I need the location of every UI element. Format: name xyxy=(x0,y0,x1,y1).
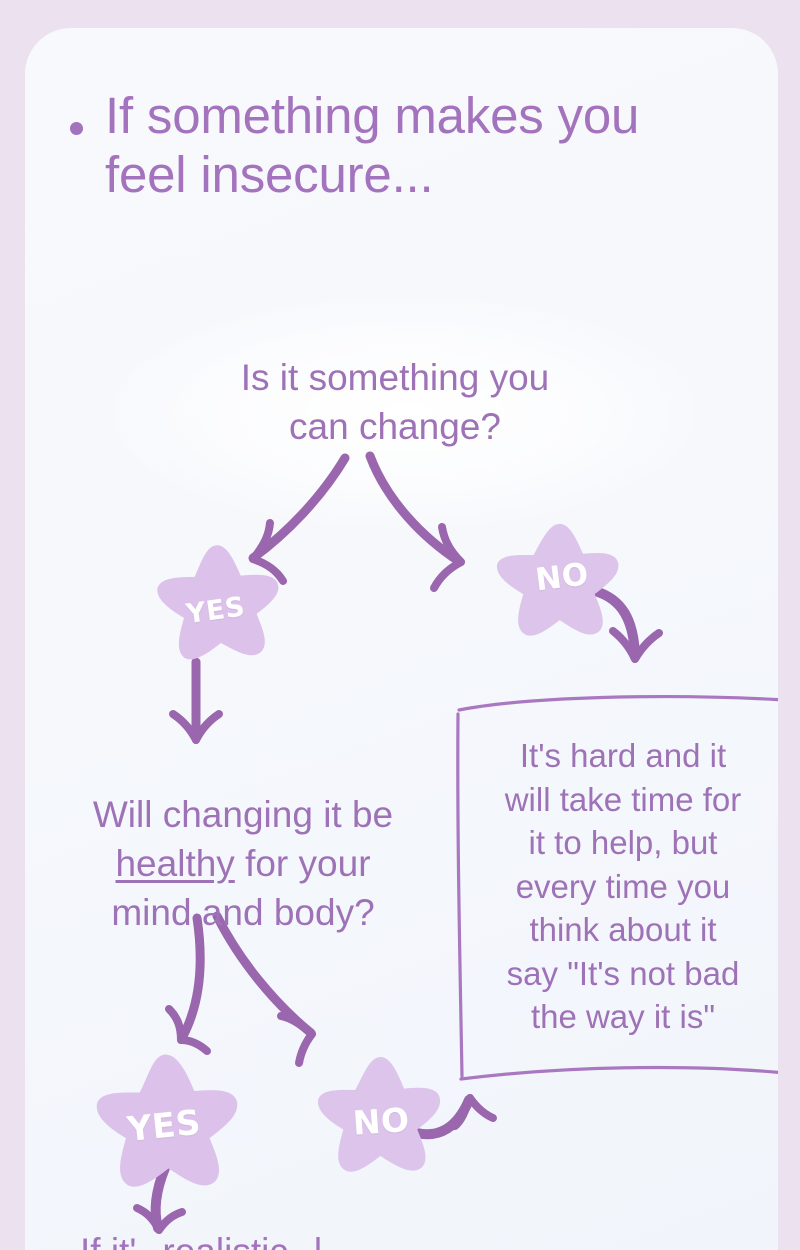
note-box: It's hard and it will take time for it t… xyxy=(455,694,778,1084)
note-line-5: think about it xyxy=(473,908,773,952)
note-line-6: say "It's not bad xyxy=(473,952,773,996)
star-shape-icon xyxy=(313,1053,445,1185)
arrow-yes1-down xyxy=(173,662,219,740)
star-shape-icon xyxy=(492,520,622,650)
bottom-cut-part-2: realistic xyxy=(162,1231,287,1250)
question-2-line-3: mind and body? xyxy=(43,888,443,937)
note-line-7: the way it is" xyxy=(473,995,773,1039)
note-box-text: It's hard and it will take time for it t… xyxy=(473,734,773,1039)
arrow-q2-to-yes xyxy=(169,918,207,1051)
star-badge-yes-1: YES xyxy=(151,540,283,672)
question-1: Is it something you can change? xyxy=(130,353,660,451)
arrow-q2-to-no xyxy=(217,916,312,1063)
bottom-cut-off-text: If it'realisticl xyxy=(80,1228,680,1250)
question-1-line-1: Is it something you xyxy=(130,353,660,402)
content-card: If something makes you feel insecure... … xyxy=(25,28,778,1250)
question-2-line-1: Will changing it be xyxy=(43,790,443,839)
note-line-4: every time you xyxy=(473,865,773,909)
star-badge-yes-2: YES xyxy=(91,1050,243,1202)
note-line-3: it to help, but xyxy=(473,821,773,865)
question-2-underlined-word: healthy xyxy=(115,843,234,884)
question-2: Will changing it be healthy for your min… xyxy=(43,790,443,938)
note-line-2: will take time for xyxy=(473,778,773,822)
star-badge-no-2: NO xyxy=(313,1053,445,1185)
star-badge-no-1: NO xyxy=(492,520,622,650)
bottom-cut-part-1: If it' xyxy=(80,1231,136,1250)
note-line-1: It's hard and it xyxy=(473,734,773,778)
question-2-line-2-rest: for your xyxy=(235,843,371,884)
arrow-q1-to-no xyxy=(370,456,461,588)
star-shape-icon xyxy=(91,1050,243,1202)
star-shape-icon xyxy=(151,540,283,672)
question-2-line-2: healthy for your xyxy=(43,839,443,888)
question-1-line-2: can change? xyxy=(130,402,660,451)
screenshot-stage: If something makes you feel insecure... … xyxy=(0,0,800,1250)
bottom-cut-part-3: l xyxy=(314,1231,322,1250)
headline-bullet-item: If something makes you feel insecure... xyxy=(70,86,730,204)
bullet-point-icon xyxy=(70,122,83,135)
headline-text: If something makes you feel insecure... xyxy=(105,86,730,204)
